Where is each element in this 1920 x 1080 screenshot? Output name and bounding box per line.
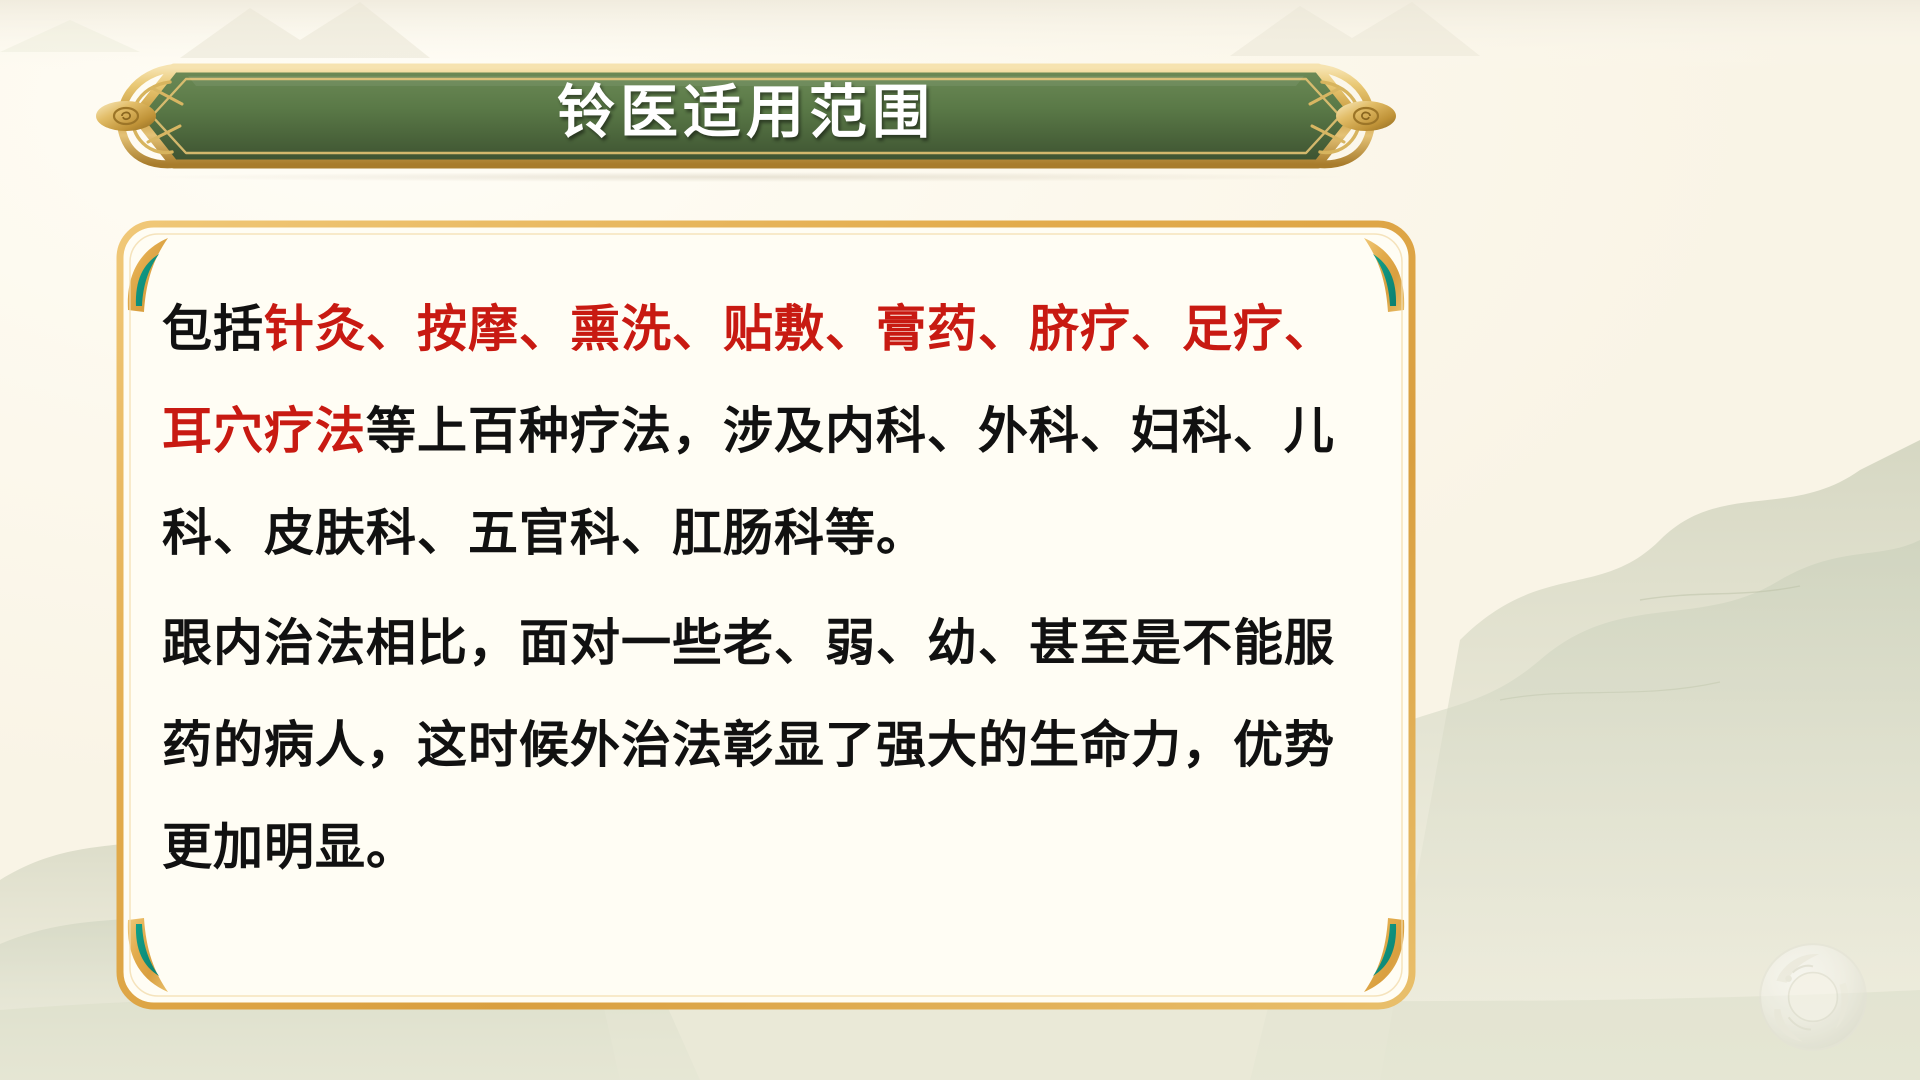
title-banner: 铃医适用范围 xyxy=(96,52,1396,180)
slide-canvas: 铃医适用范围 xyxy=(0,0,1920,1080)
card-text-body: 包括针灸、按摩、熏洗、贴敷、膏药、脐疗、足疗、耳穴疗法等上百种疗法，涉及内科、外… xyxy=(162,278,1376,968)
paragraph-scope: 包括针灸、按摩、熏洗、贴敷、膏药、脐疗、足疗、耳穴疗法等上百种疗法，涉及内科、外… xyxy=(162,278,1376,584)
page-title: 铃医适用范围 xyxy=(96,80,1396,146)
jade-dragon-ring-logo-icon xyxy=(1752,938,1874,1060)
content-card: 包括针灸、按摩、熏洗、贴敷、膏药、脐疗、足疗、耳穴疗法等上百种疗法，涉及内科、外… xyxy=(110,214,1422,1016)
paragraph-comparison: 跟内治法相比，面对一些老、弱、幼、甚至是不能服药的病人，这时候外治法彰显了强大的… xyxy=(162,592,1376,898)
text-run-normal-3: 跟内治法相比，面对一些老、弱、幼、甚至是不能服药的病人，这时候外治法彰显了强大的… xyxy=(162,615,1335,875)
text-run-normal: 包括 xyxy=(162,301,264,357)
